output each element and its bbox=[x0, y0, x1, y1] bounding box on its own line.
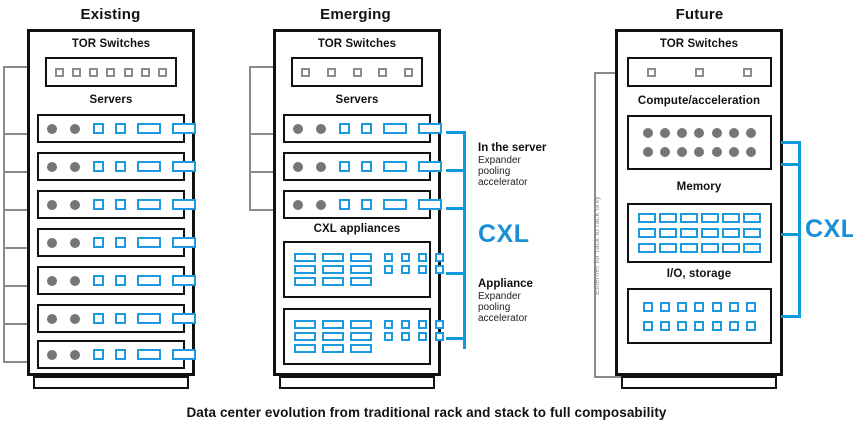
tor-port-row bbox=[301, 68, 413, 77]
memory-module-icon bbox=[743, 228, 761, 238]
cxl-module-icon bbox=[294, 344, 316, 353]
server-component-row bbox=[47, 313, 175, 324]
annotation-line: pooling bbox=[478, 302, 533, 313]
server-component-row bbox=[293, 161, 421, 172]
io-device-icon bbox=[746, 321, 756, 331]
ethernet-trunk bbox=[249, 66, 251, 209]
cxl-bracket-tick bbox=[781, 315, 801, 318]
datacenter-evolution-diagram: Existing TOR Switches Servers bbox=[0, 0, 853, 435]
accelerator-icon bbox=[677, 147, 687, 157]
io-device-icon bbox=[712, 302, 722, 312]
io-device-icon bbox=[677, 302, 687, 312]
cxl-module-icon bbox=[172, 123, 196, 134]
cpu-icon bbox=[47, 162, 57, 172]
appliance-grid bbox=[294, 243, 420, 296]
tor-switch-unit-emerging bbox=[291, 57, 423, 87]
memory-module-icon bbox=[659, 213, 677, 223]
accelerator-icon bbox=[660, 147, 670, 157]
cpu-icon bbox=[70, 200, 80, 210]
server-component-row bbox=[47, 123, 175, 134]
appliance-row bbox=[294, 332, 420, 341]
tor-port-icon bbox=[106, 68, 115, 77]
tor-port-icon bbox=[647, 68, 656, 77]
section-label-memory: Memory bbox=[615, 181, 783, 193]
memory-module-icon bbox=[638, 243, 656, 253]
cxl-device-icon bbox=[361, 199, 372, 210]
io-device-icon bbox=[643, 321, 653, 331]
cxl-device-icon bbox=[384, 332, 393, 341]
cxl-module-icon bbox=[322, 332, 344, 341]
accelerator-icon bbox=[729, 147, 739, 157]
server-component-row bbox=[47, 275, 175, 286]
cxl-bracket-tick bbox=[781, 163, 801, 166]
cxl-module-icon bbox=[350, 332, 372, 341]
tor-port-icon bbox=[72, 68, 81, 77]
memory-module-icon bbox=[680, 213, 698, 223]
cxl-module-icon bbox=[418, 123, 442, 134]
cxl-appliance-unit bbox=[283, 241, 431, 298]
memory-module-icon bbox=[722, 228, 740, 238]
server-unit bbox=[37, 340, 185, 369]
cxl-module-icon bbox=[350, 344, 372, 353]
accelerator-icon bbox=[660, 128, 670, 138]
accelerator-icon bbox=[712, 147, 722, 157]
cxl-device-icon bbox=[93, 349, 104, 360]
section-label-servers-emerging: Servers bbox=[273, 94, 441, 106]
io-device-icon bbox=[729, 302, 739, 312]
cxl-module-icon bbox=[418, 161, 442, 172]
cxl-module-icon bbox=[383, 123, 407, 134]
memory-module-icon bbox=[680, 228, 698, 238]
cpu-icon bbox=[70, 124, 80, 134]
cxl-device-icon bbox=[339, 123, 350, 134]
cxl-module-icon bbox=[350, 320, 372, 329]
memory-module-icon bbox=[722, 243, 740, 253]
cxl-device-icon bbox=[93, 275, 104, 286]
memory-grid bbox=[638, 205, 761, 261]
cxl-module-icon bbox=[350, 277, 372, 286]
appliance-row bbox=[294, 277, 420, 286]
cxl-bracket-tick bbox=[446, 169, 466, 172]
cpu-icon bbox=[70, 162, 80, 172]
cpu-icon bbox=[316, 162, 326, 172]
cpu-icon bbox=[47, 238, 57, 248]
server-unit bbox=[37, 266, 185, 295]
memory-row bbox=[638, 228, 761, 238]
cxl-device-icon bbox=[115, 123, 126, 134]
section-label-tor-future: TOR Switches bbox=[615, 38, 783, 50]
compute-row bbox=[643, 128, 756, 138]
memory-module-icon bbox=[743, 213, 761, 223]
io-device-icon bbox=[677, 321, 687, 331]
annotation-line: Expander bbox=[478, 291, 533, 302]
tor-switch-unit-existing bbox=[45, 57, 177, 87]
cxl-module-icon bbox=[172, 349, 196, 360]
cxl-module-icon bbox=[294, 332, 316, 341]
cxl-module-icon bbox=[383, 199, 407, 210]
cxl-module-icon bbox=[172, 313, 196, 324]
memory-module-icon bbox=[659, 228, 677, 238]
server-unit bbox=[37, 228, 185, 257]
cxl-module-icon bbox=[322, 320, 344, 329]
cxl-device-icon bbox=[339, 199, 350, 210]
appliance-row bbox=[294, 320, 420, 329]
annotation-line: pooling bbox=[478, 166, 546, 177]
io-row bbox=[643, 321, 756, 331]
memory-module-icon bbox=[701, 243, 719, 253]
accelerator-icon bbox=[677, 128, 687, 138]
cxl-bracket-tick bbox=[446, 207, 466, 210]
cxl-device-icon bbox=[384, 265, 393, 274]
cxl-bracket-tick bbox=[446, 131, 466, 134]
cxl-device-icon bbox=[418, 265, 427, 274]
tor-port-icon bbox=[404, 68, 413, 77]
cxl-bracket-tick bbox=[781, 141, 801, 144]
annotation-in-the-server: In the server Expander pooling accelerat… bbox=[478, 142, 546, 188]
io-device-icon bbox=[660, 302, 670, 312]
cxl-device-icon bbox=[93, 237, 104, 248]
cxl-device-icon bbox=[401, 253, 410, 262]
cxl-label-future: CXL bbox=[805, 215, 853, 244]
io-device-icon bbox=[660, 321, 670, 331]
server-unit bbox=[37, 304, 185, 333]
cpu-icon bbox=[47, 314, 57, 324]
accelerator-icon bbox=[729, 128, 739, 138]
annotation-line: accelerator bbox=[478, 177, 546, 188]
section-label-servers-existing: Servers bbox=[27, 94, 195, 106]
cxl-device-icon bbox=[435, 265, 444, 274]
tor-port-icon bbox=[141, 68, 150, 77]
cxl-appliance-unit bbox=[283, 308, 431, 365]
cxl-device-icon bbox=[115, 161, 126, 172]
tor-port-icon bbox=[353, 68, 362, 77]
cxl-bracket-tick bbox=[446, 272, 466, 275]
memory-module-icon bbox=[659, 243, 677, 253]
cxl-device-icon bbox=[115, 237, 126, 248]
tor-port-icon bbox=[158, 68, 167, 77]
memory-unit bbox=[627, 203, 772, 263]
cxl-label-emerging: CXL bbox=[478, 220, 530, 249]
ethernet-trunk bbox=[3, 66, 5, 362]
cxl-device-icon bbox=[418, 253, 427, 262]
cxl-device-icon bbox=[401, 320, 410, 329]
section-label-io-storage: I/O, storage bbox=[615, 268, 783, 280]
tor-port-row bbox=[55, 68, 167, 77]
memory-module-icon bbox=[701, 228, 719, 238]
cxl-module-icon bbox=[172, 275, 196, 286]
cpu-icon bbox=[293, 200, 303, 210]
cxl-bracket-tick bbox=[446, 337, 466, 340]
cxl-module-icon bbox=[350, 265, 372, 274]
cxl-device-icon bbox=[115, 199, 126, 210]
cxl-module-icon bbox=[172, 199, 196, 210]
cxl-bracket-spine bbox=[798, 141, 801, 316]
cxl-module-icon bbox=[418, 199, 442, 210]
rack-foot-emerging bbox=[279, 376, 435, 389]
cxl-device-icon bbox=[93, 313, 104, 324]
cpu-icon bbox=[70, 238, 80, 248]
memory-module-icon bbox=[701, 213, 719, 223]
io-device-icon bbox=[712, 321, 722, 331]
cxl-module-icon bbox=[322, 253, 344, 262]
column-title-future: Future bbox=[617, 6, 782, 23]
memory-module-icon bbox=[722, 213, 740, 223]
cpu-icon bbox=[47, 124, 57, 134]
accelerator-icon bbox=[694, 147, 704, 157]
appliance-row bbox=[294, 253, 420, 262]
accelerator-icon bbox=[746, 128, 756, 138]
cxl-device-icon bbox=[401, 332, 410, 341]
cxl-bracket-tick bbox=[781, 233, 801, 236]
cxl-device-icon bbox=[401, 265, 410, 274]
appliance-row bbox=[294, 344, 420, 353]
cxl-device-icon bbox=[361, 123, 372, 134]
cxl-device-icon bbox=[435, 332, 444, 341]
cxl-module-icon bbox=[172, 237, 196, 248]
io-device-icon bbox=[694, 321, 704, 331]
io-device-icon bbox=[729, 321, 739, 331]
cpu-icon bbox=[70, 350, 80, 360]
rack-foot-future bbox=[621, 376, 777, 389]
cxl-device-icon bbox=[384, 320, 393, 329]
column-title-emerging: Emerging bbox=[273, 6, 438, 23]
rack-foot-existing bbox=[33, 376, 189, 389]
tor-port-row bbox=[647, 68, 752, 77]
tor-port-icon bbox=[378, 68, 387, 77]
cxl-device-icon bbox=[435, 253, 444, 262]
server-component-row bbox=[293, 123, 421, 134]
cxl-module-icon bbox=[172, 161, 196, 172]
io-device-icon bbox=[643, 302, 653, 312]
accelerator-icon bbox=[746, 147, 756, 157]
memory-module-icon bbox=[638, 228, 656, 238]
ethernet-label-future: Ethernet for rack to rack only bbox=[592, 196, 601, 295]
cxl-module-icon bbox=[322, 344, 344, 353]
cpu-icon bbox=[47, 350, 57, 360]
server-component-row bbox=[47, 237, 175, 248]
cpu-icon bbox=[70, 314, 80, 324]
server-component-row bbox=[47, 161, 175, 172]
server-unit bbox=[37, 152, 185, 181]
cxl-device-icon bbox=[418, 320, 427, 329]
annotation-appliance: Appliance Expander pooling accelerator bbox=[478, 278, 533, 324]
section-label-tor-existing: TOR Switches bbox=[27, 38, 195, 50]
tor-port-icon bbox=[327, 68, 336, 77]
compute-row bbox=[643, 147, 756, 157]
ethernet-tap bbox=[594, 376, 622, 378]
tor-port-icon bbox=[743, 68, 752, 77]
memory-module-icon bbox=[638, 213, 656, 223]
annotation-title: Appliance bbox=[478, 278, 533, 291]
appliance-grid bbox=[294, 310, 420, 363]
annotation-line: accelerator bbox=[478, 313, 533, 324]
cxl-device-icon bbox=[418, 332, 427, 341]
section-label-cxl-appliances: CXL appliances bbox=[273, 223, 441, 235]
server-unit bbox=[283, 190, 431, 219]
cxl-module-icon bbox=[137, 123, 161, 134]
io-device-icon bbox=[694, 302, 704, 312]
accelerator-icon bbox=[643, 128, 653, 138]
cxl-module-icon bbox=[294, 320, 316, 329]
tor-port-icon bbox=[695, 68, 704, 77]
memory-module-icon bbox=[680, 243, 698, 253]
cxl-device-icon bbox=[93, 123, 104, 134]
section-label-tor-emerging: TOR Switches bbox=[273, 38, 441, 50]
memory-row bbox=[638, 243, 761, 253]
compute-acceleration-unit bbox=[627, 115, 772, 170]
cpu-icon bbox=[47, 200, 57, 210]
cxl-device-icon bbox=[93, 161, 104, 172]
io-row bbox=[643, 302, 756, 312]
cxl-module-icon bbox=[137, 199, 161, 210]
server-unit bbox=[283, 114, 431, 143]
diagram-caption: Data center evolution from traditional r… bbox=[0, 405, 853, 420]
server-unit bbox=[37, 190, 185, 219]
cpu-icon bbox=[70, 276, 80, 286]
cxl-bracket-spine bbox=[463, 131, 466, 349]
cxl-module-icon bbox=[322, 277, 344, 286]
tor-switch-unit-future bbox=[627, 57, 772, 87]
cxl-module-icon bbox=[294, 253, 316, 262]
tor-port-icon bbox=[124, 68, 133, 77]
annotation-title: In the server bbox=[478, 142, 546, 155]
accelerator-icon bbox=[643, 147, 653, 157]
cxl-device-icon bbox=[115, 313, 126, 324]
cxl-module-icon bbox=[137, 349, 161, 360]
io-storage-unit bbox=[627, 288, 772, 344]
compute-grid bbox=[643, 117, 756, 168]
cxl-module-icon bbox=[294, 277, 316, 286]
tor-port-icon bbox=[301, 68, 310, 77]
annotation-line: Expander bbox=[478, 155, 546, 166]
cxl-module-icon bbox=[322, 265, 344, 274]
cpu-icon bbox=[293, 162, 303, 172]
io-grid bbox=[643, 290, 756, 342]
column-title-existing: Existing bbox=[28, 6, 193, 23]
io-device-icon bbox=[746, 302, 756, 312]
accelerator-icon bbox=[712, 128, 722, 138]
tor-port-icon bbox=[55, 68, 64, 77]
memory-module-icon bbox=[743, 243, 761, 253]
cxl-module-icon bbox=[137, 237, 161, 248]
cpu-icon bbox=[316, 124, 326, 134]
appliance-row bbox=[294, 265, 420, 274]
server-unit bbox=[283, 152, 431, 181]
cxl-device-icon bbox=[339, 161, 350, 172]
server-component-row bbox=[47, 199, 175, 210]
cxl-module-icon bbox=[350, 253, 372, 262]
server-unit bbox=[37, 114, 185, 143]
accelerator-icon bbox=[694, 128, 704, 138]
server-component-row bbox=[47, 349, 175, 360]
cpu-icon bbox=[47, 276, 57, 286]
cxl-module-icon bbox=[137, 161, 161, 172]
cxl-device-icon bbox=[93, 199, 104, 210]
memory-row bbox=[638, 213, 761, 223]
cpu-icon bbox=[293, 124, 303, 134]
server-component-row bbox=[293, 199, 421, 210]
cxl-device-icon bbox=[384, 253, 393, 262]
section-label-compute: Compute/acceleration bbox=[615, 95, 783, 107]
cxl-module-icon bbox=[383, 161, 407, 172]
tor-port-icon bbox=[89, 68, 98, 77]
cpu-icon bbox=[316, 200, 326, 210]
cxl-module-icon bbox=[294, 265, 316, 274]
cxl-device-icon bbox=[435, 320, 444, 329]
cxl-device-icon bbox=[361, 161, 372, 172]
cxl-module-icon bbox=[137, 275, 161, 286]
cxl-device-icon bbox=[115, 349, 126, 360]
cxl-device-icon bbox=[115, 275, 126, 286]
cxl-module-icon bbox=[137, 313, 161, 324]
